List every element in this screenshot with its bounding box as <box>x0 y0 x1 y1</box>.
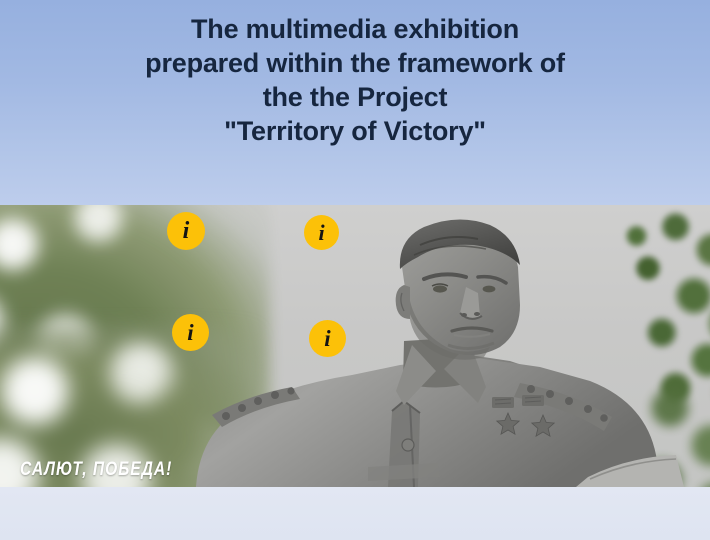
info-badge-2[interactable]: i <box>304 215 339 250</box>
title-line-4: "Territory of Victory" <box>0 114 710 148</box>
page-title: The multimedia exhibition prepared withi… <box>0 12 710 148</box>
title-line-1: The multimedia exhibition <box>0 12 710 46</box>
info-badge-4[interactable]: i <box>309 320 346 357</box>
info-icon: i <box>324 327 330 350</box>
info-icon: i <box>318 222 324 244</box>
statue-figure <box>0 205 710 487</box>
slide-header: The multimedia exhibition prepared withi… <box>0 0 710 205</box>
slide-root: The multimedia exhibition prepared withi… <box>0 0 710 540</box>
monument-photo: САЛЮТ, ПОБЕДА! <box>0 205 710 487</box>
salute-caption: САЛЮТ, ПОБЕДА! <box>20 459 172 481</box>
info-icon: i <box>187 321 193 344</box>
info-badge-3[interactable]: i <box>172 314 209 351</box>
slide-footer <box>0 487 710 540</box>
title-line-3: the the Project <box>0 80 710 114</box>
title-line-2: prepared within the framework of <box>0 46 710 80</box>
info-icon: i <box>183 219 190 243</box>
info-badge-1[interactable]: i <box>167 212 205 250</box>
